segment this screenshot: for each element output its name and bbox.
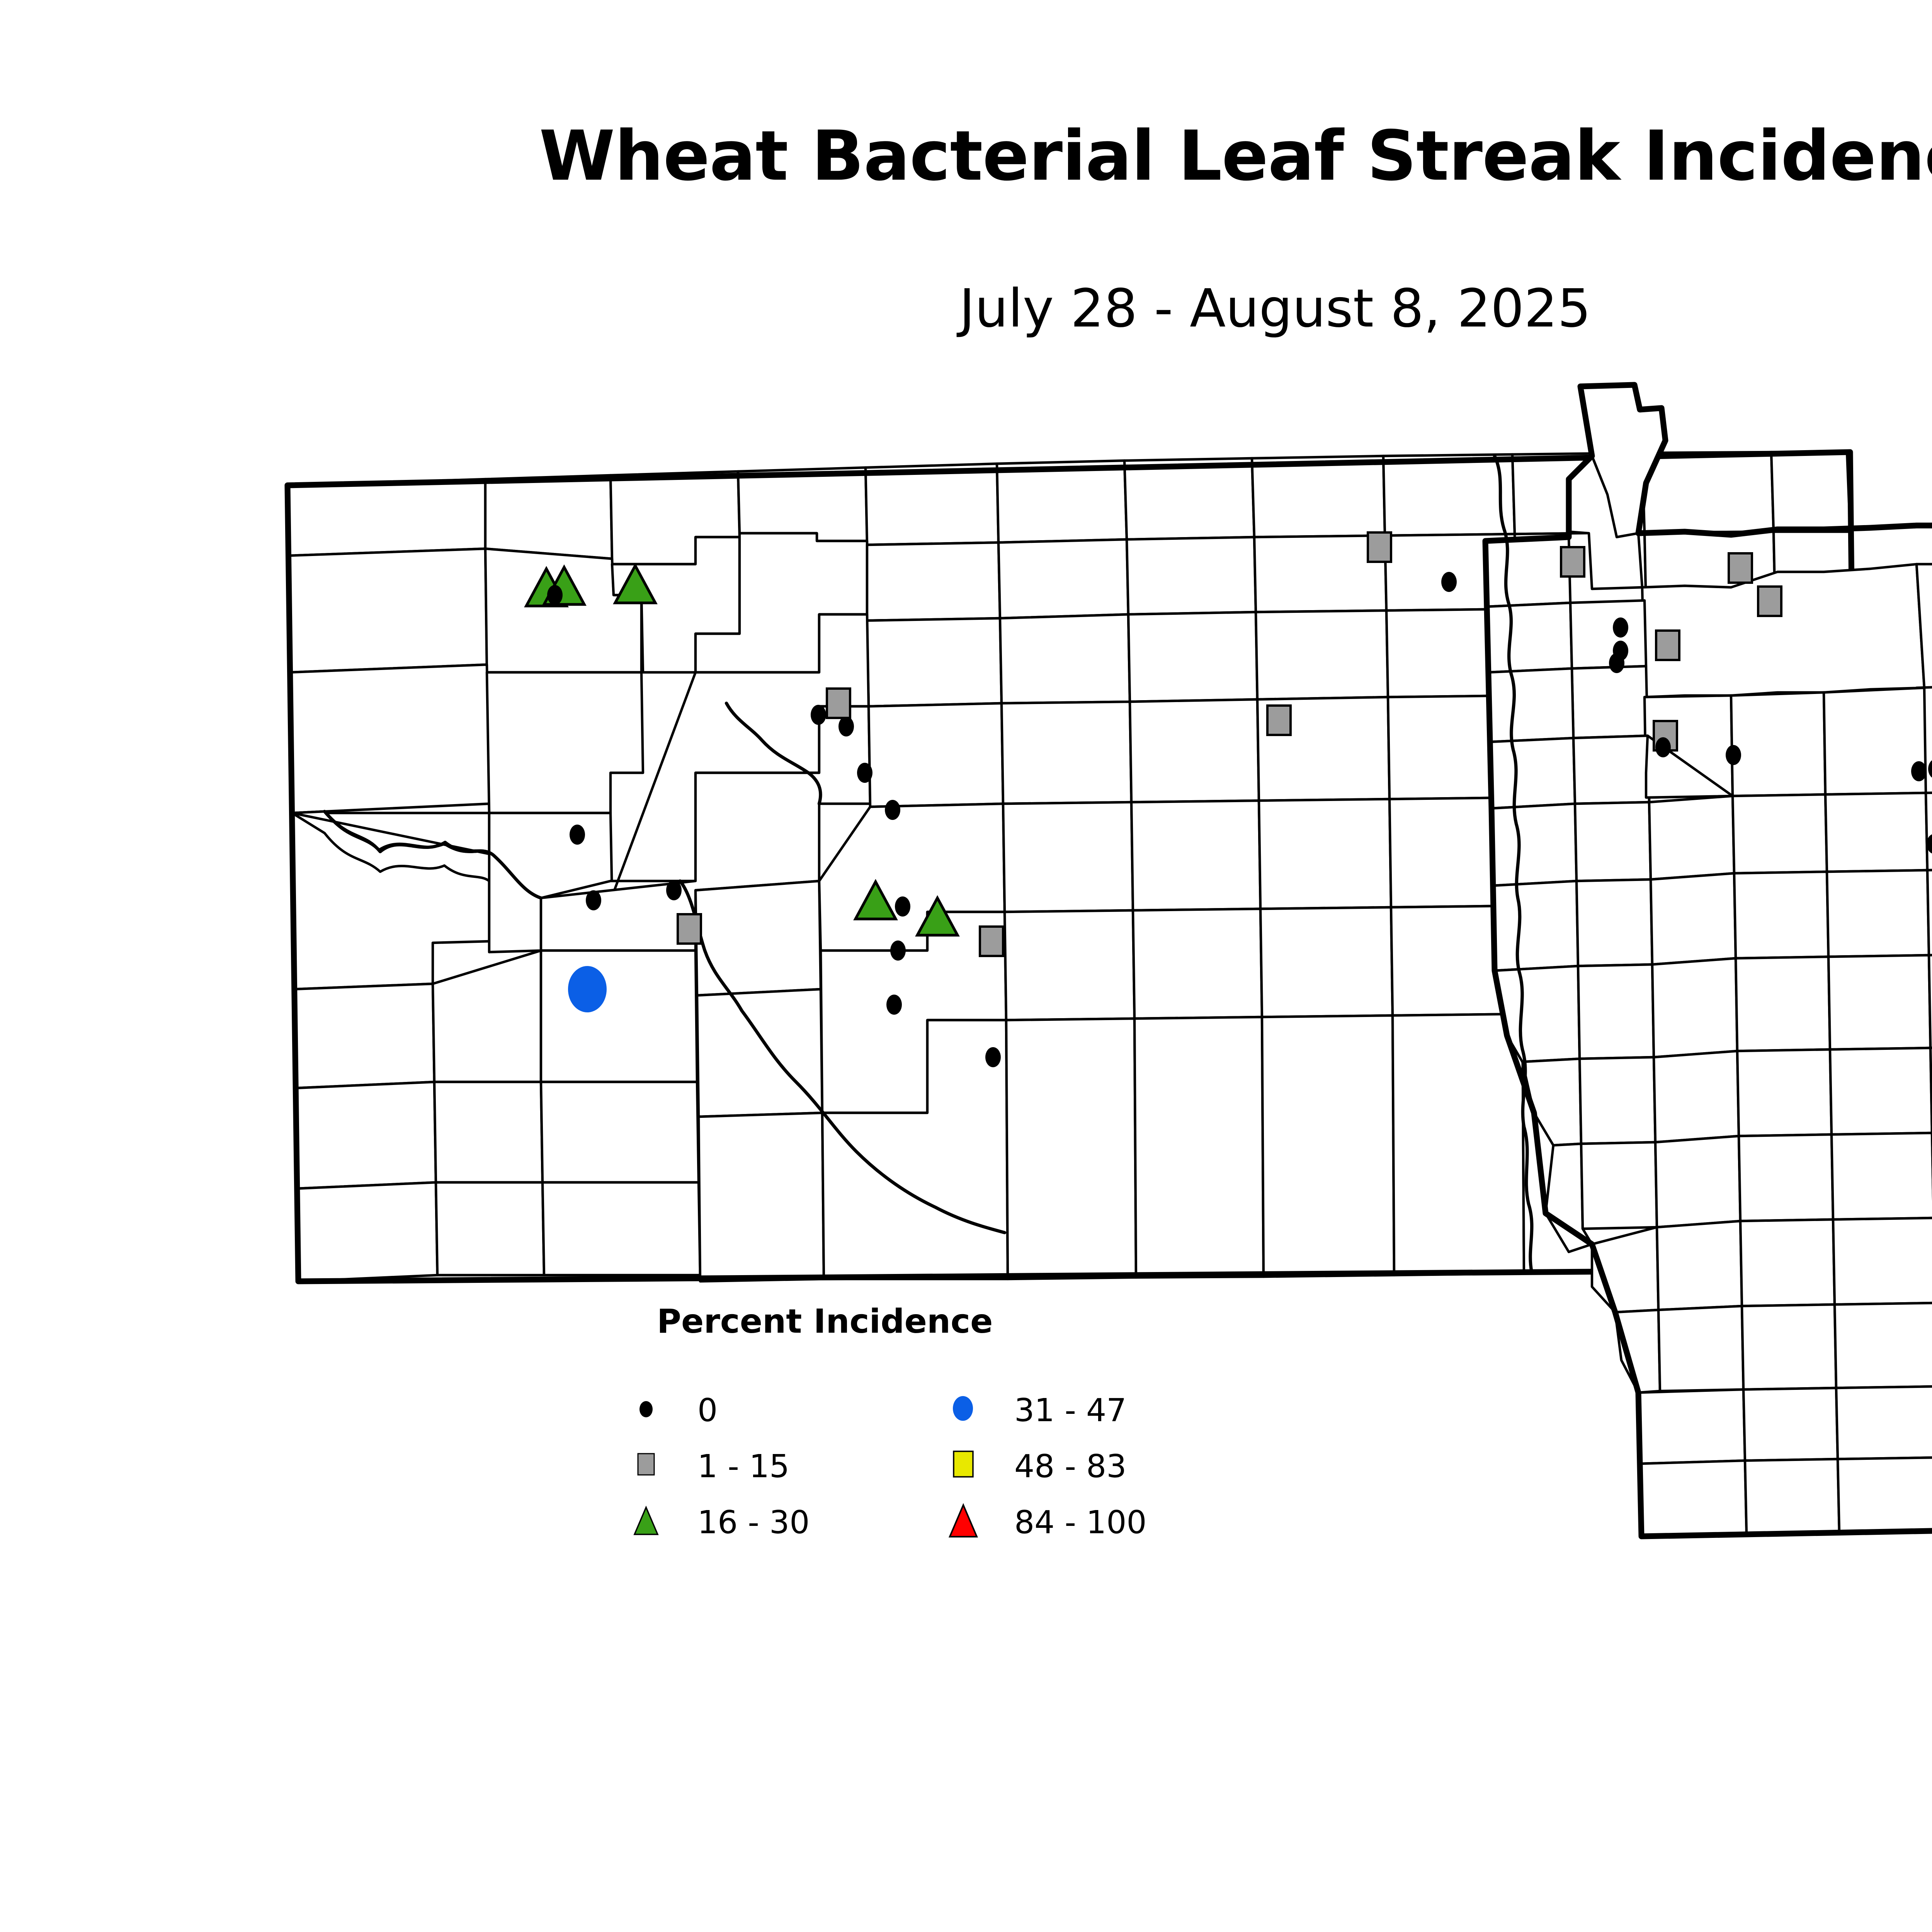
map-marker-square[interactable] xyxy=(827,689,850,718)
map-marker-circle-small[interactable] xyxy=(838,716,854,736)
triangle-red-icon xyxy=(943,1497,1005,1548)
legend-label: 16 - 30 xyxy=(697,1504,810,1541)
legend-label: 48 - 83 xyxy=(1014,1448,1126,1485)
page-title: Wheat Bacterial Leaf Streak Incidence xyxy=(0,116,1932,196)
map-marker-square[interactable] xyxy=(1729,553,1752,583)
map-page: Wheat Bacterial Leaf Streak Incidence Ju… xyxy=(0,0,1932,1932)
page-subtitle: July 28 - August 8, 2025 xyxy=(0,278,1932,339)
map-marker-square[interactable] xyxy=(980,927,1003,956)
map-marker-square[interactable] xyxy=(1267,706,1291,735)
square-icon xyxy=(626,1441,688,1492)
map-marker-square[interactable] xyxy=(1368,532,1391,562)
map-marker-circle-small[interactable] xyxy=(1911,761,1927,781)
map-marker-square[interactable] xyxy=(1656,631,1679,660)
legend-title: Percent Incidence xyxy=(657,1302,993,1341)
map-marker-circle-small[interactable] xyxy=(895,896,910,917)
map-marker-circle-large[interactable] xyxy=(568,966,607,1012)
map-marker-circle-small[interactable] xyxy=(811,705,826,725)
legend-label: 0 xyxy=(697,1392,718,1429)
circle-small-icon xyxy=(626,1385,688,1435)
map-marker-circle-small[interactable] xyxy=(985,1047,1001,1067)
map-marker-circle-small[interactable] xyxy=(1726,745,1741,765)
map-marker-square[interactable] xyxy=(1758,587,1781,616)
circle-large-icon xyxy=(943,1385,1005,1435)
map-marker-square[interactable] xyxy=(1561,547,1584,577)
map-marker-circle-small[interactable] xyxy=(890,940,906,961)
map-marker-circle-small[interactable] xyxy=(1441,572,1457,592)
map-marker-circle-small[interactable] xyxy=(857,763,872,783)
legend-label: 84 - 100 xyxy=(1014,1504,1147,1541)
triangle-icon xyxy=(626,1497,688,1548)
legend-label: 1 - 15 xyxy=(697,1448,789,1485)
map-marker-circle-small[interactable] xyxy=(1609,653,1624,673)
map-marker-circle-small[interactable] xyxy=(570,825,585,845)
map-marker-circle-small[interactable] xyxy=(885,800,900,820)
legend-label: 31 - 47 xyxy=(1014,1392,1126,1429)
map-marker-circle-small[interactable] xyxy=(1613,617,1628,638)
map-marker-circle-small[interactable] xyxy=(586,890,601,910)
square-yellow-icon xyxy=(943,1441,1005,1492)
map-marker-square[interactable] xyxy=(678,914,701,944)
map-marker-circle-small[interactable] xyxy=(547,585,563,605)
map-marker-circle-small[interactable] xyxy=(666,880,682,900)
legend: Percent Incidence 0 1 - 15 16 - 30 xyxy=(626,1302,1206,1580)
map-marker-circle-small[interactable] xyxy=(886,995,902,1015)
map-marker-circle-small[interactable] xyxy=(1655,737,1671,757)
